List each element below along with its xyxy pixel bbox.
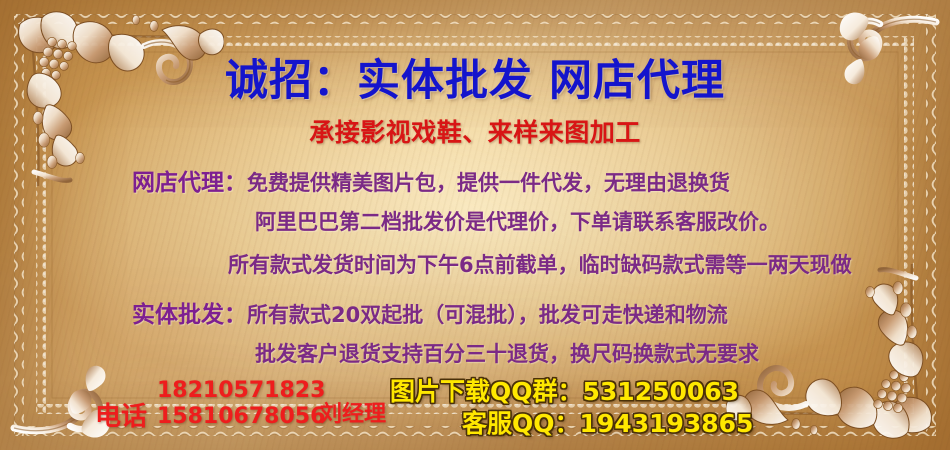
phone-number-secondary: 15810678056 [157, 404, 325, 429]
service-qq: 客服QQ：1943193865 [462, 404, 753, 440]
banner-subtitle: 承接影视戏鞋、来样来图加工 [0, 113, 950, 149]
contact-person-name: 刘经理 [320, 396, 386, 428]
section-online-agent-line-2: 阿里巴巴第二档批发价是代理价，下单请联系客服改价。 [255, 206, 780, 236]
phone-label: 电话 [95, 396, 147, 433]
section-online-agent-line-3: 所有款式发货时间为下午6点前截单，临时缺码款式需等一两天现做 [228, 249, 852, 279]
section-online-agent-row: 网店代理：免费提供精美图片包，提供一件代发，无理由退换货 [132, 163, 730, 197]
section-wholesale-line-1: 所有款式20双起批（可混批），批发可走快递和物流 [247, 303, 728, 327]
phone-contact-block: 电话 18210571823 15810678056 刘经理 [95, 378, 395, 438]
qq-group-download: 图片下载QQ群：531250063 [390, 372, 739, 408]
banner-title: 诚招：实体批发 网店代理 [0, 46, 950, 108]
banner-content: 诚招：实体批发 网店代理 承接影视戏鞋、来样来图加工 网店代理：免费提供精美图片… [0, 0, 950, 450]
section-label-online-agent: 网店代理： [132, 170, 247, 196]
phone-number-primary: 18210571823 [157, 378, 325, 403]
promo-banner: 诚招：实体批发 网店代理 承接影视戏鞋、来样来图加工 网店代理：免费提供精美图片… [0, 0, 950, 450]
section-online-agent-line-1: 免费提供精美图片包，提供一件代发，无理由退换货 [247, 171, 730, 195]
section-wholesale-row: 实体批发：所有款式20双起批（可混批），批发可走快递和物流 [132, 295, 728, 329]
section-label-wholesale: 实体批发： [132, 302, 247, 328]
section-wholesale-line-2: 批发客户退货支持百分三十退货，换尺码换款式无要求 [255, 338, 759, 368]
